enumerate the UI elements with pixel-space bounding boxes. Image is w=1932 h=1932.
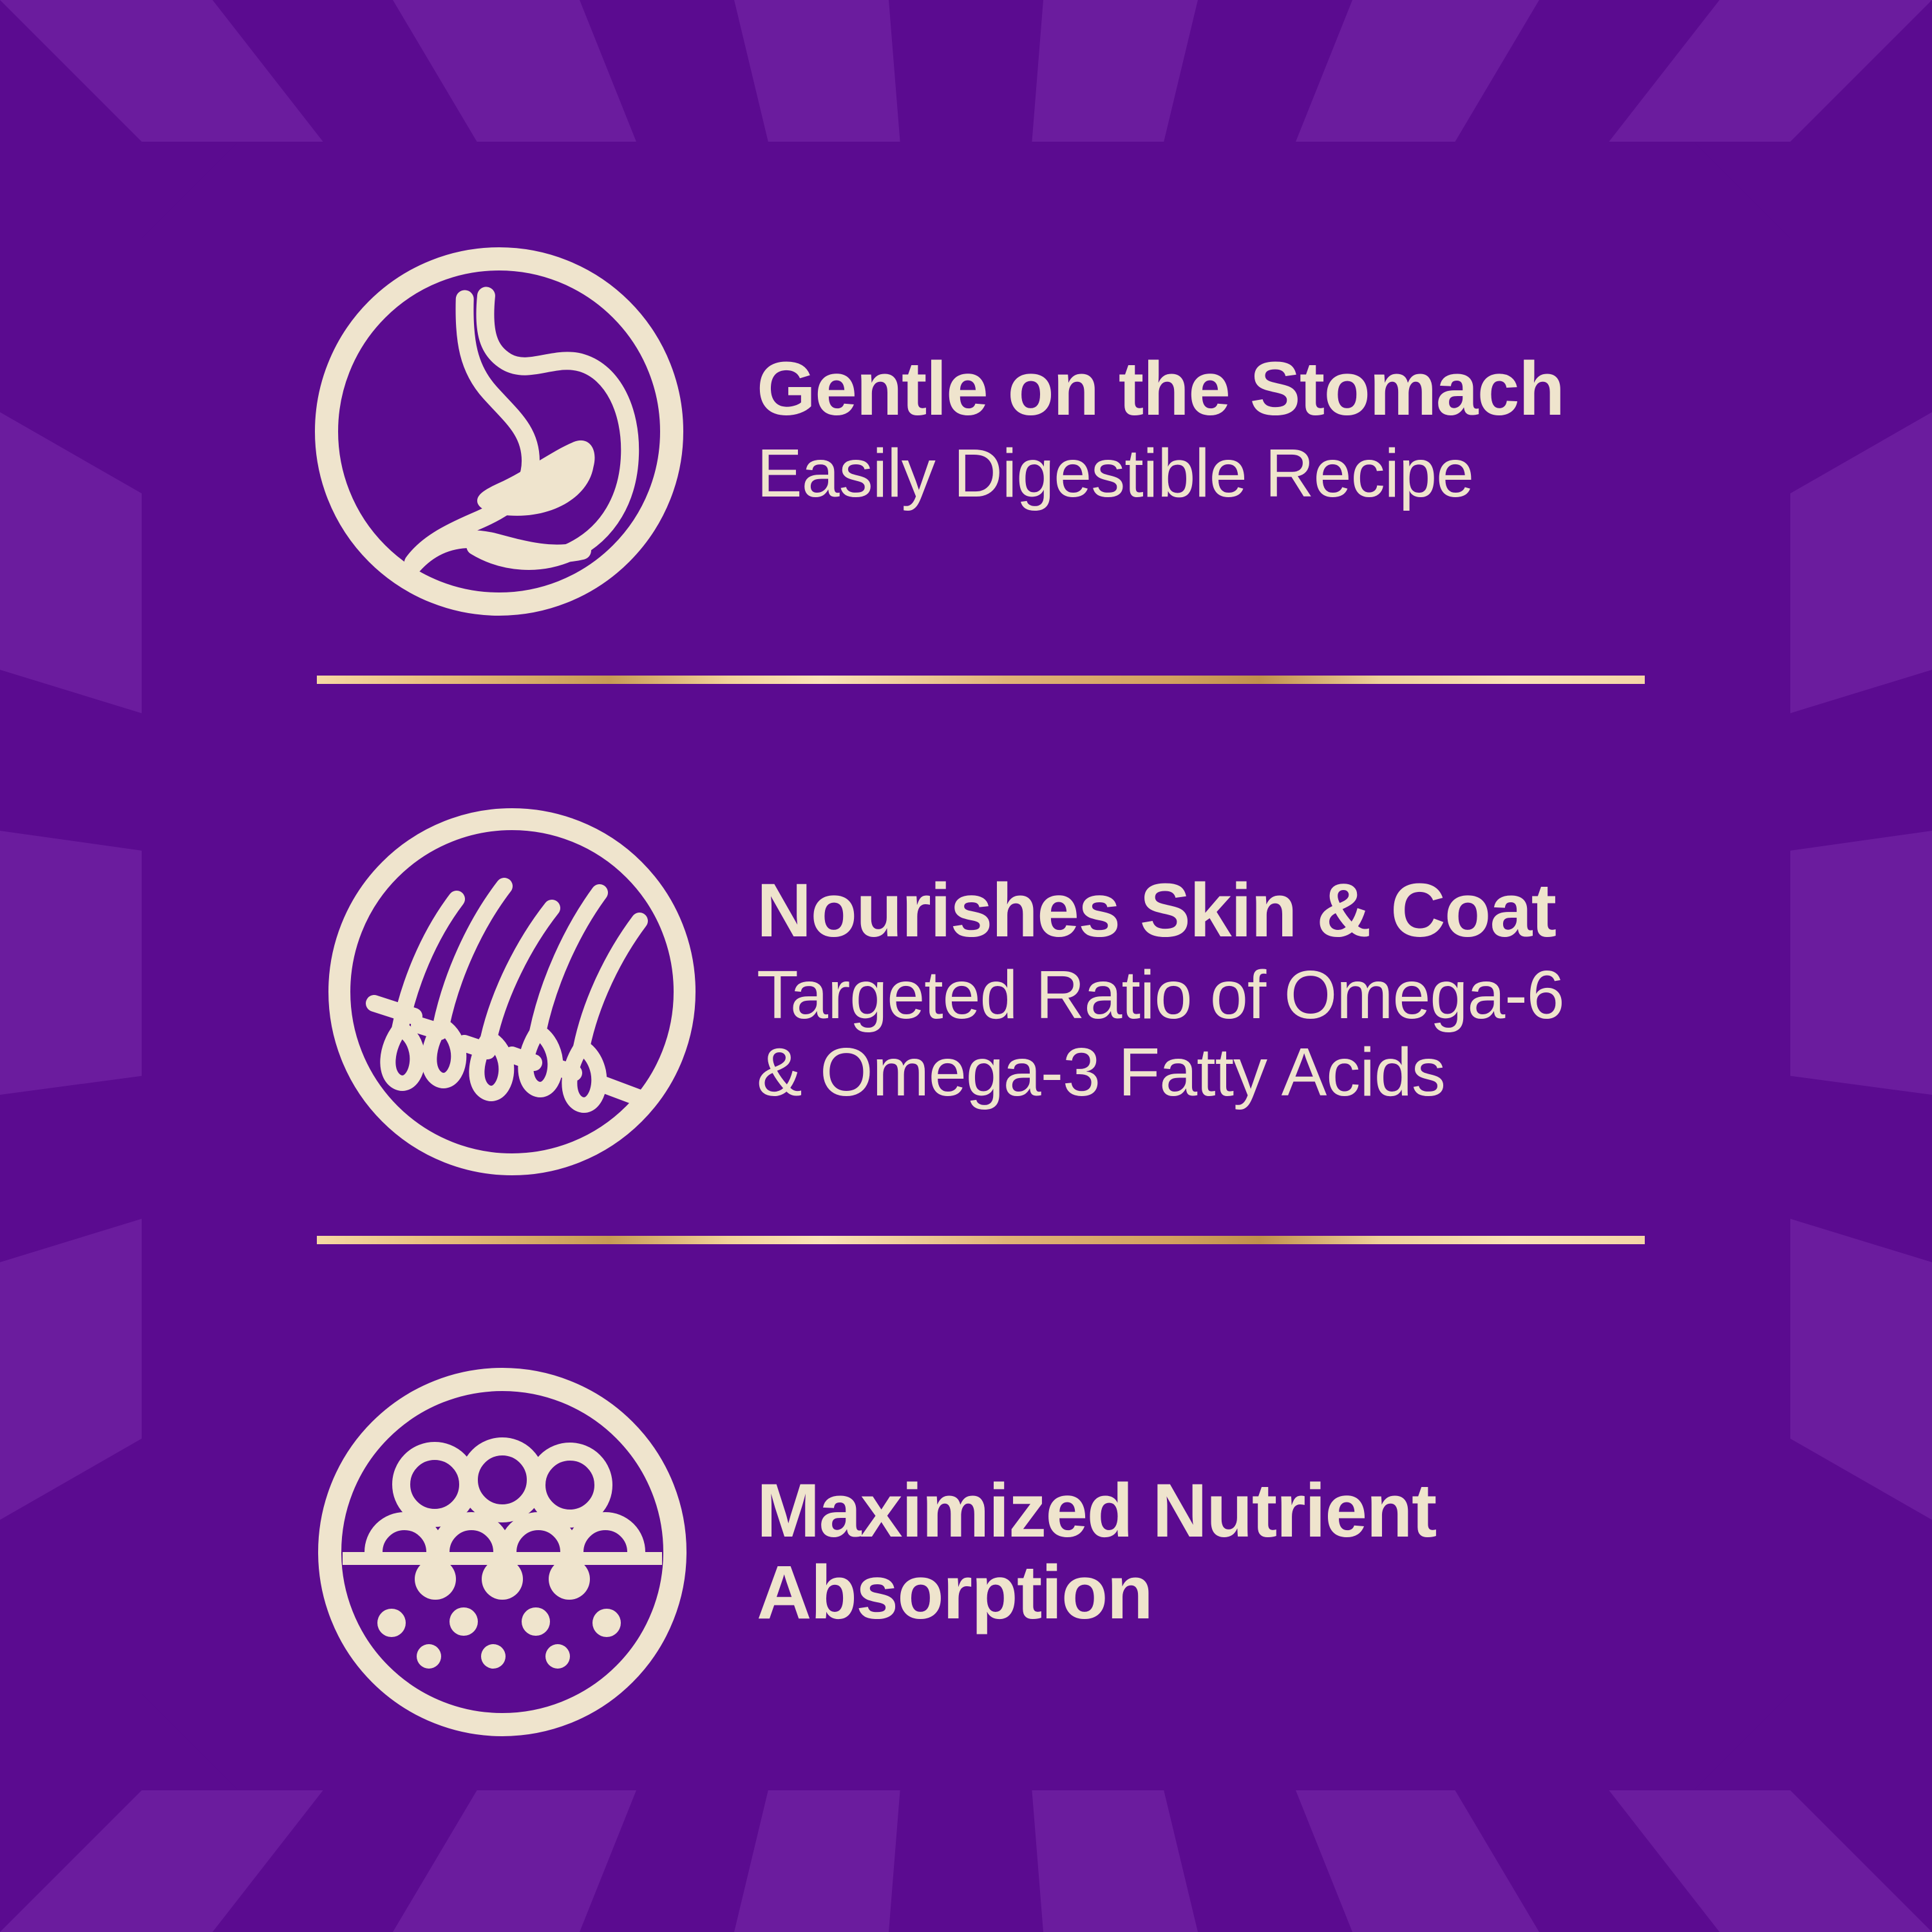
nutrient-absorption-icon [303,1352,702,1752]
gold-divider-2 [317,1236,1645,1244]
feature-2-headline: Nourishes Skin & Coat [757,872,1700,951]
feature-3-text: Maximized Nutrient Absorption [702,1470,1700,1634]
feature-1-subline: Easily Digestible Recipe [757,435,1700,513]
stomach-icon [299,232,699,631]
feature-1-headline: Gentle on the Stomach [757,350,1700,429]
feature-3-headline-line-1: Maximized Nutrient [757,1468,1436,1553]
feature-1-text: Gentle on the Stomach Easily Digestible … [699,350,1700,512]
feature-3-headline-line-2: Absorption [757,1550,1152,1635]
promo-canvas: Gentle on the Stomach Easily Digestible … [0,0,1932,1932]
feature-3-headline: Maximized Nutrient Absorption [757,1470,1700,1634]
gold-divider-1 [317,676,1645,684]
feature-2-subline-line-1: Targeted Ratio of Omega-6 [757,957,1564,1033]
feature-maximized-nutrient-absorption: Maximized Nutrient Absorption [283,1314,1700,1790]
feature-2-text: Nourishes Skin & Coat Targeted Ratio of … [712,872,1700,1111]
feature-gentle-on-stomach: Gentle on the Stomach Easily Digestible … [283,193,1700,670]
hair-follicle-icon [312,792,712,1191]
feature-list: Gentle on the Stomach Easily Digestible … [0,0,1932,1932]
feature-2-subline-line-2: & Omega-3 Fatty Acids [757,1034,1445,1110]
feature-2-subline: Targeted Ratio of Omega-6 & Omega-3 Fatt… [757,957,1700,1112]
feature-nourishes-skin-coat: Nourishes Skin & Coat Targeted Ratio of … [283,747,1700,1236]
